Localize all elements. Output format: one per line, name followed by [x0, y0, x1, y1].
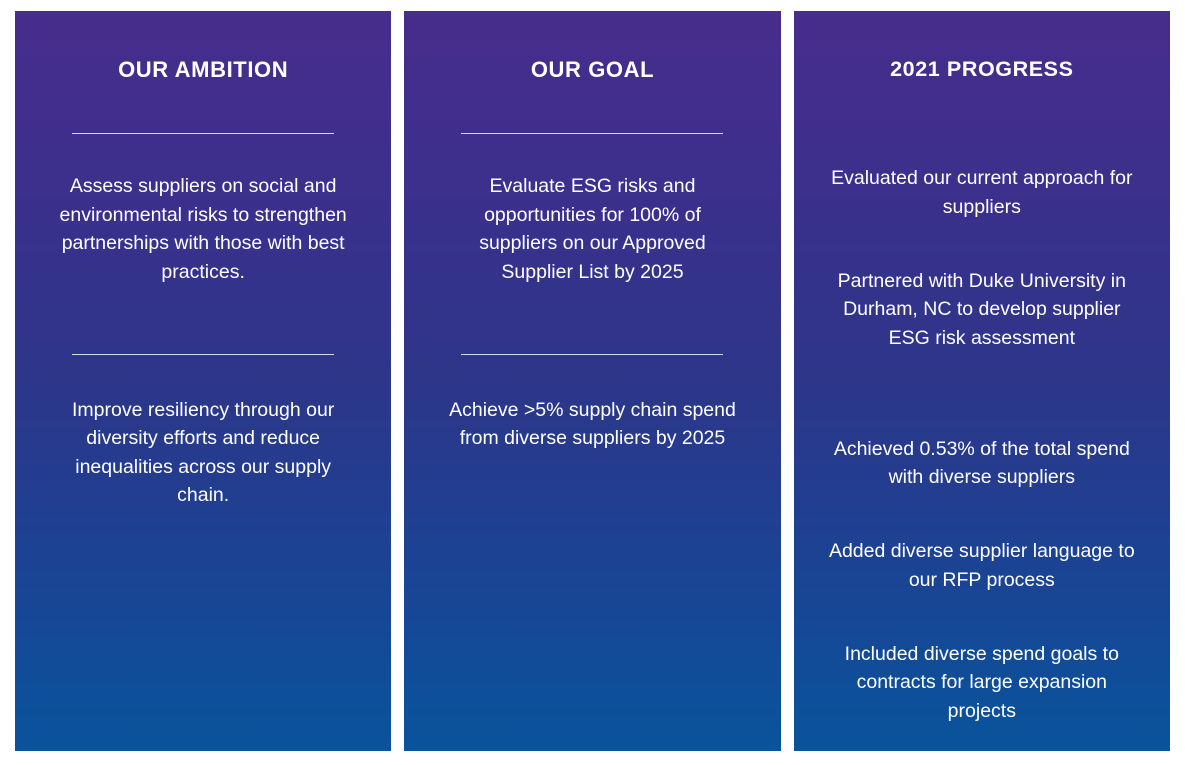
panel-our-goal: OUR GOAL Evaluate ESG risks and opportun…: [404, 11, 780, 751]
divider-under-title: [461, 133, 723, 134]
panel-body-text: Evaluate ESG risks and opportunities for…: [442, 172, 742, 286]
panel-2021-progress: 2021 PROGRESS Evaluated our current appr…: [794, 11, 1170, 751]
panel-our-ambition: OUR AMBITION Assess suppliers on social …: [15, 11, 391, 751]
divider-between-blocks: [461, 354, 723, 355]
panel-body-text: Included diverse spend goals to contract…: [822, 640, 1142, 726]
panel-body-text: Achieved 0.53% of the total spend with d…: [822, 435, 1142, 492]
panel-body-text: Evaluated our current approach for suppl…: [822, 164, 1142, 221]
panels-board: OUR AMBITION Assess suppliers on social …: [0, 0, 1185, 765]
panel-body-text: Partnered with Duke University in Durham…: [822, 267, 1142, 353]
divider-under-title: [72, 133, 334, 134]
panel-title-our-goal: OUR GOAL: [531, 58, 654, 82]
panel-title-our-ambition: OUR AMBITION: [118, 58, 288, 82]
divider-between-blocks: [72, 354, 334, 355]
panel-title-2021-progress: 2021 PROGRESS: [890, 58, 1073, 82]
panel-body-text: Achieve >5% supply chain spend from dive…: [442, 396, 742, 453]
panel-body-text: Added diverse supplier language to our R…: [822, 537, 1142, 594]
panel-body-text: Improve resiliency through our diversity…: [53, 396, 353, 510]
panel-body-text: Assess suppliers on social and environme…: [53, 172, 353, 286]
